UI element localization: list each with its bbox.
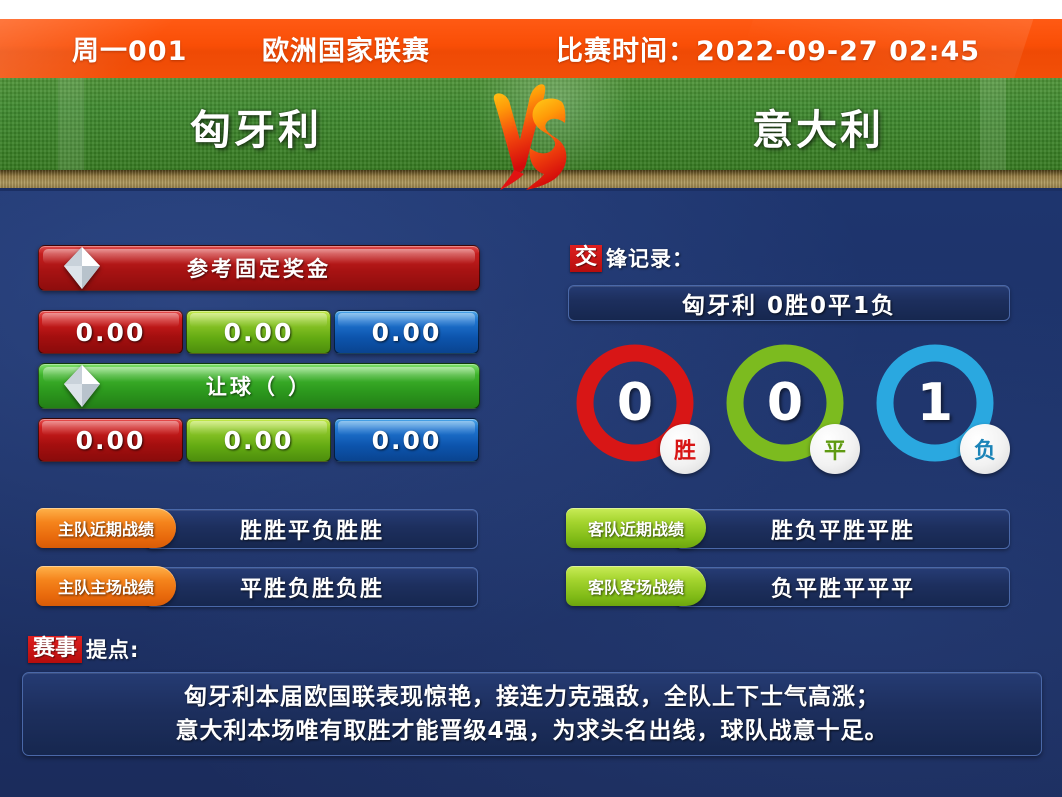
home-team-name: 匈牙利 <box>190 96 322 156</box>
handicap-odds-header: 让球（ ） <box>38 363 480 409</box>
diamond-gem-icon <box>55 241 109 295</box>
away-team-name: 意大利 <box>752 96 884 156</box>
ring-loss-badge: 负 <box>960 424 1010 474</box>
header-bar: 周一001 欧洲国家联赛 比赛时间：2022-09-27 02:45 <box>0 19 1062 78</box>
pitch-stripe <box>980 78 1006 172</box>
league-name: 欧洲国家联赛 <box>262 29 430 68</box>
away-venue-form-value: 负平胜平平平 <box>676 567 1010 607</box>
fixed-odd-draw[interactable]: 0.00 <box>186 310 331 354</box>
h2h-ring-win: 0 胜 <box>572 340 698 466</box>
h2h-label-text: 锋记录： <box>606 243 694 273</box>
fixed-odds-title: 参考固定奖金 <box>187 253 331 283</box>
h2h-section-label: 交 锋记录： <box>570 243 694 273</box>
pitch-stripe <box>58 78 84 172</box>
h2h-label-chip: 交 <box>570 245 602 272</box>
notes-box: 匈牙利本届欧国联表现惊艳，接连力克强敌，全队上下士气高涨； 意大利本场唯有取胜才… <box>22 672 1042 756</box>
notes-label-chip: 赛事 <box>28 636 82 663</box>
notes-section-label: 赛事 提点: <box>28 634 139 664</box>
home-venue-form-row: 平胜负胜负胜 主队主场战绩 <box>36 566 478 606</box>
away-recent-form-value: 胜负平胜平胜 <box>676 509 1010 549</box>
diamond-gem-icon <box>55 359 109 413</box>
fixed-odds-header: 参考固定奖金 <box>38 245 480 291</box>
away-recent-form-label: 客队近期战绩 <box>566 508 706 548</box>
away-venue-form-row: 负平胜平平平 客队客场战绩 <box>566 566 1008 606</box>
home-venue-form-value: 平胜负胜负胜 <box>146 567 478 607</box>
away-recent-form-row: 胜负平胜平胜 客队近期战绩 <box>566 508 1008 548</box>
home-venue-form-label: 主队主场战绩 <box>36 566 176 606</box>
round-number: 周一001 <box>72 29 187 68</box>
vs-flame-icon <box>470 78 590 193</box>
home-recent-form-row: 胜胜平负胜胜 主队近期战绩 <box>36 508 478 548</box>
handicap-odd-home[interactable]: 0.00 <box>38 418 183 462</box>
home-recent-form-value: 胜胜平负胜胜 <box>146 509 478 549</box>
fixed-odd-away[interactable]: 0.00 <box>334 310 479 354</box>
away-venue-form-label: 客队客场战绩 <box>566 566 706 606</box>
match-time: 比赛时间：2022-09-27 02:45 <box>556 29 980 68</box>
notes-label-text: 提点: <box>86 634 139 664</box>
handicap-odd-away[interactable]: 0.00 <box>334 418 479 462</box>
h2h-ring-loss: 1 负 <box>872 340 998 466</box>
handicap-odds-title: 让球（ ） <box>206 371 312 401</box>
notes-line-2: 意大利本场唯有取胜才能晋级4强，为求头名出线，球队战意十足。 <box>175 714 888 748</box>
notes-line-1: 匈牙利本届欧国联表现惊艳，接连力克强敌，全队上下士气高涨； <box>184 680 880 714</box>
h2h-ring-draw: 0 平 <box>722 340 848 466</box>
ring-win-badge: 胜 <box>660 424 710 474</box>
match-preview-card: 周一001 欧洲国家联赛 比赛时间：2022-09-27 02:45 匈牙利 意… <box>0 0 1062 797</box>
fixed-odd-home[interactable]: 0.00 <box>38 310 183 354</box>
handicap-odd-draw[interactable]: 0.00 <box>186 418 331 462</box>
h2h-summary-box: 匈牙利 0胜0平1负 <box>568 285 1010 321</box>
ring-draw-badge: 平 <box>810 424 860 474</box>
home-recent-form-label: 主队近期战绩 <box>36 508 176 548</box>
